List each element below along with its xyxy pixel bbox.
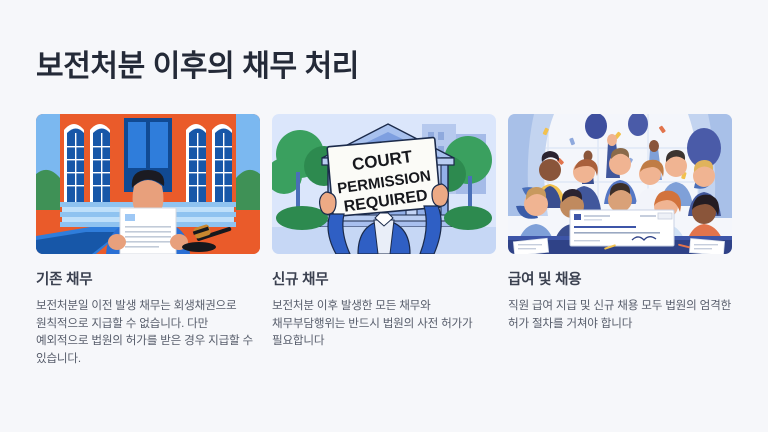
card-heading: 급여 및 채용 xyxy=(508,271,732,289)
card-row: 기존 채무 보전처분일 이전 발생 채무는 회생채권으로 원칙적으로 지급할 수… xyxy=(36,114,732,367)
team-celebrating-with-check-illustration xyxy=(508,114,732,254)
card-body: 직원 급여 지급 및 신규 채용 모두 법원의 엄격한 허가 절차를 거쳐야 합… xyxy=(508,297,732,332)
card-new-debt[interactable]: COURT PERMISSION REQUIRED 신규 채무 보전처분 이후 … xyxy=(272,114,496,367)
slide-root: 보전처분 이후의 채무 처리 xyxy=(0,0,768,432)
card-existing-debt[interactable]: 기존 채무 보전처분일 이전 발생 채무는 회생채권으로 원칙적으로 지급할 수… xyxy=(36,114,260,367)
page-title: 보전처분 이후의 채무 처리 xyxy=(36,48,359,86)
court-permission-sign-illustration: COURT PERMISSION REQUIRED xyxy=(272,114,496,254)
card-heading: 기존 채무 xyxy=(36,271,260,289)
card-body: 보전처분일 이전 발생 채무는 회생채권으로 원칙적으로 지급할 수 없습니다.… xyxy=(36,297,260,367)
card-heading: 신규 채무 xyxy=(272,271,496,289)
judge-at-bench-illustration xyxy=(36,114,260,254)
card-body: 보전처분 이후 발생한 모든 채무와 채무부담행위는 반드시 법원의 사전 허가… xyxy=(272,297,496,350)
card-salary-and-hiring[interactable]: 급여 및 채용 직원 급여 지급 및 신규 채용 모두 법원의 엄격한 허가 절… xyxy=(508,114,732,367)
